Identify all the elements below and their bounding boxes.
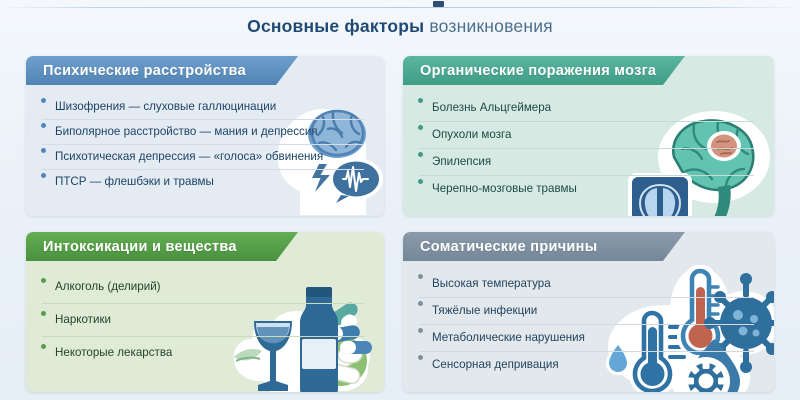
list-item-label: Психотическая депрессия — «голоса» обвин… [55, 150, 323, 163]
list-item-label: Черепно-мозговые травмы [432, 182, 577, 195]
list-item-label: ПТСР — флешбэки и травмы [55, 175, 214, 188]
list-item-label: Метаболические нарушения [432, 331, 585, 344]
list-item: Биполярное расстройство — мания и депрес… [41, 119, 370, 144]
card-item-list: Высокая температура Тяжёлые инфекции Мет… [418, 270, 760, 378]
card-body: Болезнь Альцгеймера Опухоли мозга Эпилеп… [403, 85, 774, 216]
list-item: Опухоли мозга [418, 121, 760, 148]
list-item: Алкоголь (делирий) [41, 270, 370, 303]
card-somatic-causes: Соматические причины [403, 232, 774, 392]
list-item: Метаболические нарушения [418, 324, 760, 351]
card-item-list: Шизофрения — слуховые галлюцинации Бипол… [41, 94, 370, 194]
list-item-label: Опухоли мозга [432, 128, 511, 141]
list-item-label: Некоторые лекарства [55, 346, 172, 359]
list-item: Сенсорная депривация [418, 351, 760, 378]
card-header: Психические расстройства [26, 56, 298, 85]
card-header-label: Соматические причины [420, 239, 597, 255]
list-item-label: Наркотики [55, 313, 111, 326]
list-item: Некоторые лекарства [41, 336, 370, 369]
list-item: Высокая температура [418, 270, 760, 297]
list-item: Тяжёлые инфекции [418, 297, 760, 324]
bullet-dot [41, 98, 46, 103]
card-header: Соматические причины [403, 232, 685, 261]
top-fragment-mark [433, 1, 444, 7]
bullet-dot [41, 148, 46, 153]
list-item: Болезнь Альцгеймера [418, 94, 760, 121]
list-item-label: Алкоголь (делирий) [55, 280, 161, 293]
bullet-dot [418, 301, 423, 306]
bullet-dot [41, 278, 46, 283]
bullet-dot [418, 98, 423, 103]
card-header: Интоксикации и вещества [26, 232, 298, 261]
bullet-dot [418, 274, 423, 279]
card-item-list: Болезнь Альцгеймера Опухоли мозга Эпилеп… [418, 94, 760, 202]
list-item: Психотическая депрессия — «голоса» обвин… [41, 144, 370, 169]
page-title-light: возникновения [429, 16, 553, 36]
card-header-label: Интоксикации и вещества [43, 239, 237, 255]
list-item-label: Высокая температура [432, 277, 551, 290]
top-divider [0, 7, 800, 8]
bullet-dot [418, 125, 423, 130]
list-item-label: Сенсорная депривация [432, 358, 559, 371]
bullet-dot [41, 173, 46, 178]
bullet-dot [418, 152, 423, 157]
list-item: Наркотики [41, 303, 370, 336]
infographic-root: Основные факторы возникновения Психическ… [0, 0, 800, 400]
card-intoxication-substances: Интоксикации и вещества [26, 232, 384, 392]
list-item: Эпилепсия [418, 148, 760, 175]
bullet-dot [41, 344, 46, 349]
list-item: ПТСР — флешбэки и травмы [41, 169, 370, 194]
card-header-label: Органические поражения мозга [420, 63, 656, 79]
bullet-dot [41, 311, 46, 316]
list-item-label: Эпилепсия [432, 155, 491, 168]
card-body: Шизофрения — слуховые галлюцинации Бипол… [26, 85, 384, 216]
card-organic-brain-damage: Органические поражения мозга [403, 56, 774, 216]
card-header: Органические поражения мозга [403, 56, 685, 85]
list-item-label: Биполярное расстройство — мания и депрес… [55, 125, 318, 138]
card-item-list: Алкоголь (делирий) Наркотики Некоторые л… [41, 270, 370, 369]
page-title: Основные факторы возникновения [0, 16, 800, 37]
bullet-dot [418, 328, 423, 333]
list-item-label: Шизофрения — слуховые галлюцинации [55, 100, 276, 113]
list-item: Шизофрения — слуховые галлюцинации [41, 94, 370, 119]
list-item-label: Тяжёлые инфекции [432, 304, 537, 317]
card-body: Алкоголь (делирий) Наркотики Некоторые л… [26, 261, 384, 392]
list-item: Черепно-мозговые травмы [418, 175, 760, 202]
page-title-bold: Основные факторы [247, 16, 424, 36]
card-header-label: Психические расстройства [43, 63, 246, 79]
bullet-dot [418, 179, 423, 184]
card-mental-disorders: Психические расстройства [26, 56, 384, 216]
card-body: Высокая температура Тяжёлые инфекции Мет… [403, 261, 774, 392]
list-item-label: Болезнь Альцгеймера [432, 101, 551, 114]
bullet-dot [41, 123, 46, 128]
cards-grid: Психические расстройства [26, 56, 774, 394]
bullet-dot [418, 355, 423, 360]
